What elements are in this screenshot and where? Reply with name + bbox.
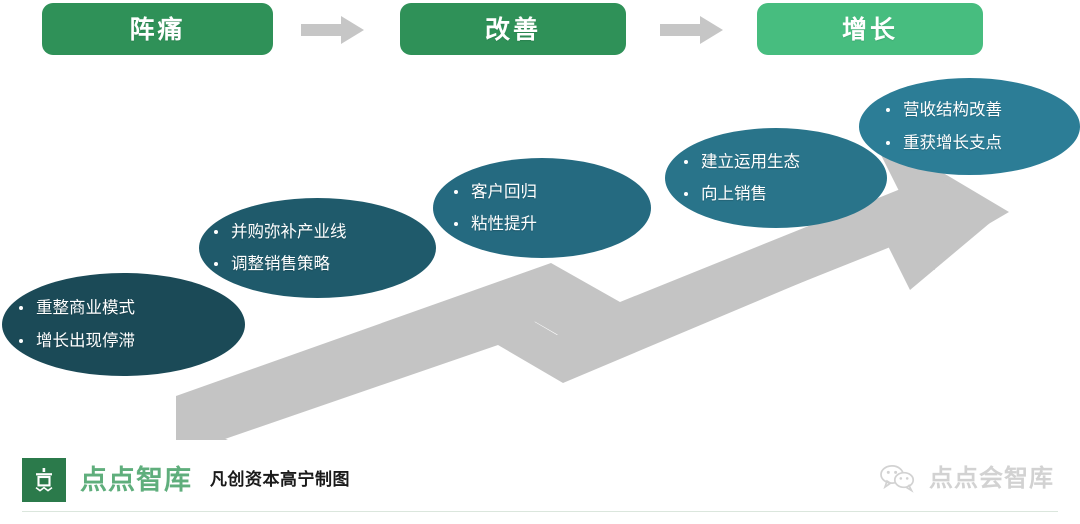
bubble-5-bullet-1: 营收结构改善 [903, 94, 1080, 126]
bubble-5-list: 营收结构改善 重获增长支点 [859, 94, 1080, 158]
bubble-1-bullet-1: 重整商业模式 [36, 292, 245, 324]
stage-box-3-label: 增长 [842, 17, 898, 42]
bubble-2[interactable]: 并购弥补产业线 调整销售策略 [199, 198, 436, 298]
stage-box-1-label: 阵痛 [129, 17, 185, 42]
stage-box-2-label: 改善 [485, 17, 541, 42]
bubble-4-list: 建立运用生态 向上销售 [665, 146, 887, 210]
credit-text: 凡创资本高宁制图 [210, 472, 350, 489]
diandian-logo-icon [22, 458, 66, 502]
bubble-3-list: 客户回归 粘性提升 [433, 176, 651, 240]
footer-brand: 点点智库 凡创资本高宁制图 [22, 458, 350, 502]
right-arrow-icon-1 [301, 14, 365, 46]
wechat-account-name: 点点会智库 [929, 466, 1054, 490]
rising-zigzag-arrow-shape [0, 0, 1080, 524]
bubble-4[interactable]: 建立运用生态 向上销售 [665, 128, 887, 228]
wechat-icon [878, 463, 918, 493]
rising-zigzag-arrow-icon [0, 0, 1080, 524]
bubble-5-bullet-2: 重获增长支点 [903, 127, 1080, 159]
brand-name: 点点智库 [80, 467, 192, 494]
infographic-slide: 阵痛 改善 增长 重整商业模式 增长出现停滞 并购弥补产业线 调整销售策略 客户… [0, 0, 1080, 524]
bubble-3[interactable]: 客户回归 粘性提升 [433, 158, 651, 258]
bubble-1-bullet-2: 增长出现停滞 [36, 325, 245, 357]
bubble-5[interactable]: 营收结构改善 重获增长支点 [859, 78, 1080, 175]
stage-box-2[interactable]: 改善 [400, 3, 626, 55]
bubble-1-list: 重整商业模式 增长出现停滞 [2, 292, 245, 356]
footer: 点点智库 凡创资本高宁制图 点点会智库 [0, 455, 1080, 524]
bubble-3-bullet-1: 客户回归 [471, 176, 651, 208]
wechat-account: 点点会智库 [878, 463, 1054, 493]
bubble-1[interactable]: 重整商业模式 增长出现停滞 [2, 273, 245, 376]
bubble-3-bullet-2: 粘性提升 [471, 208, 651, 240]
bubble-4-bullet-2: 向上销售 [701, 178, 887, 210]
stage-box-1[interactable]: 阵痛 [42, 3, 273, 55]
stage-box-3[interactable]: 增长 [757, 3, 983, 55]
right-arrow-icon-2 [660, 14, 724, 46]
bubble-2-list: 并购弥补产业线 调整销售策略 [199, 216, 436, 280]
bubble-2-bullet-2: 调整销售策略 [231, 248, 436, 280]
footer-divider [22, 511, 1058, 512]
bubble-2-bullet-1: 并购弥补产业线 [231, 216, 436, 248]
